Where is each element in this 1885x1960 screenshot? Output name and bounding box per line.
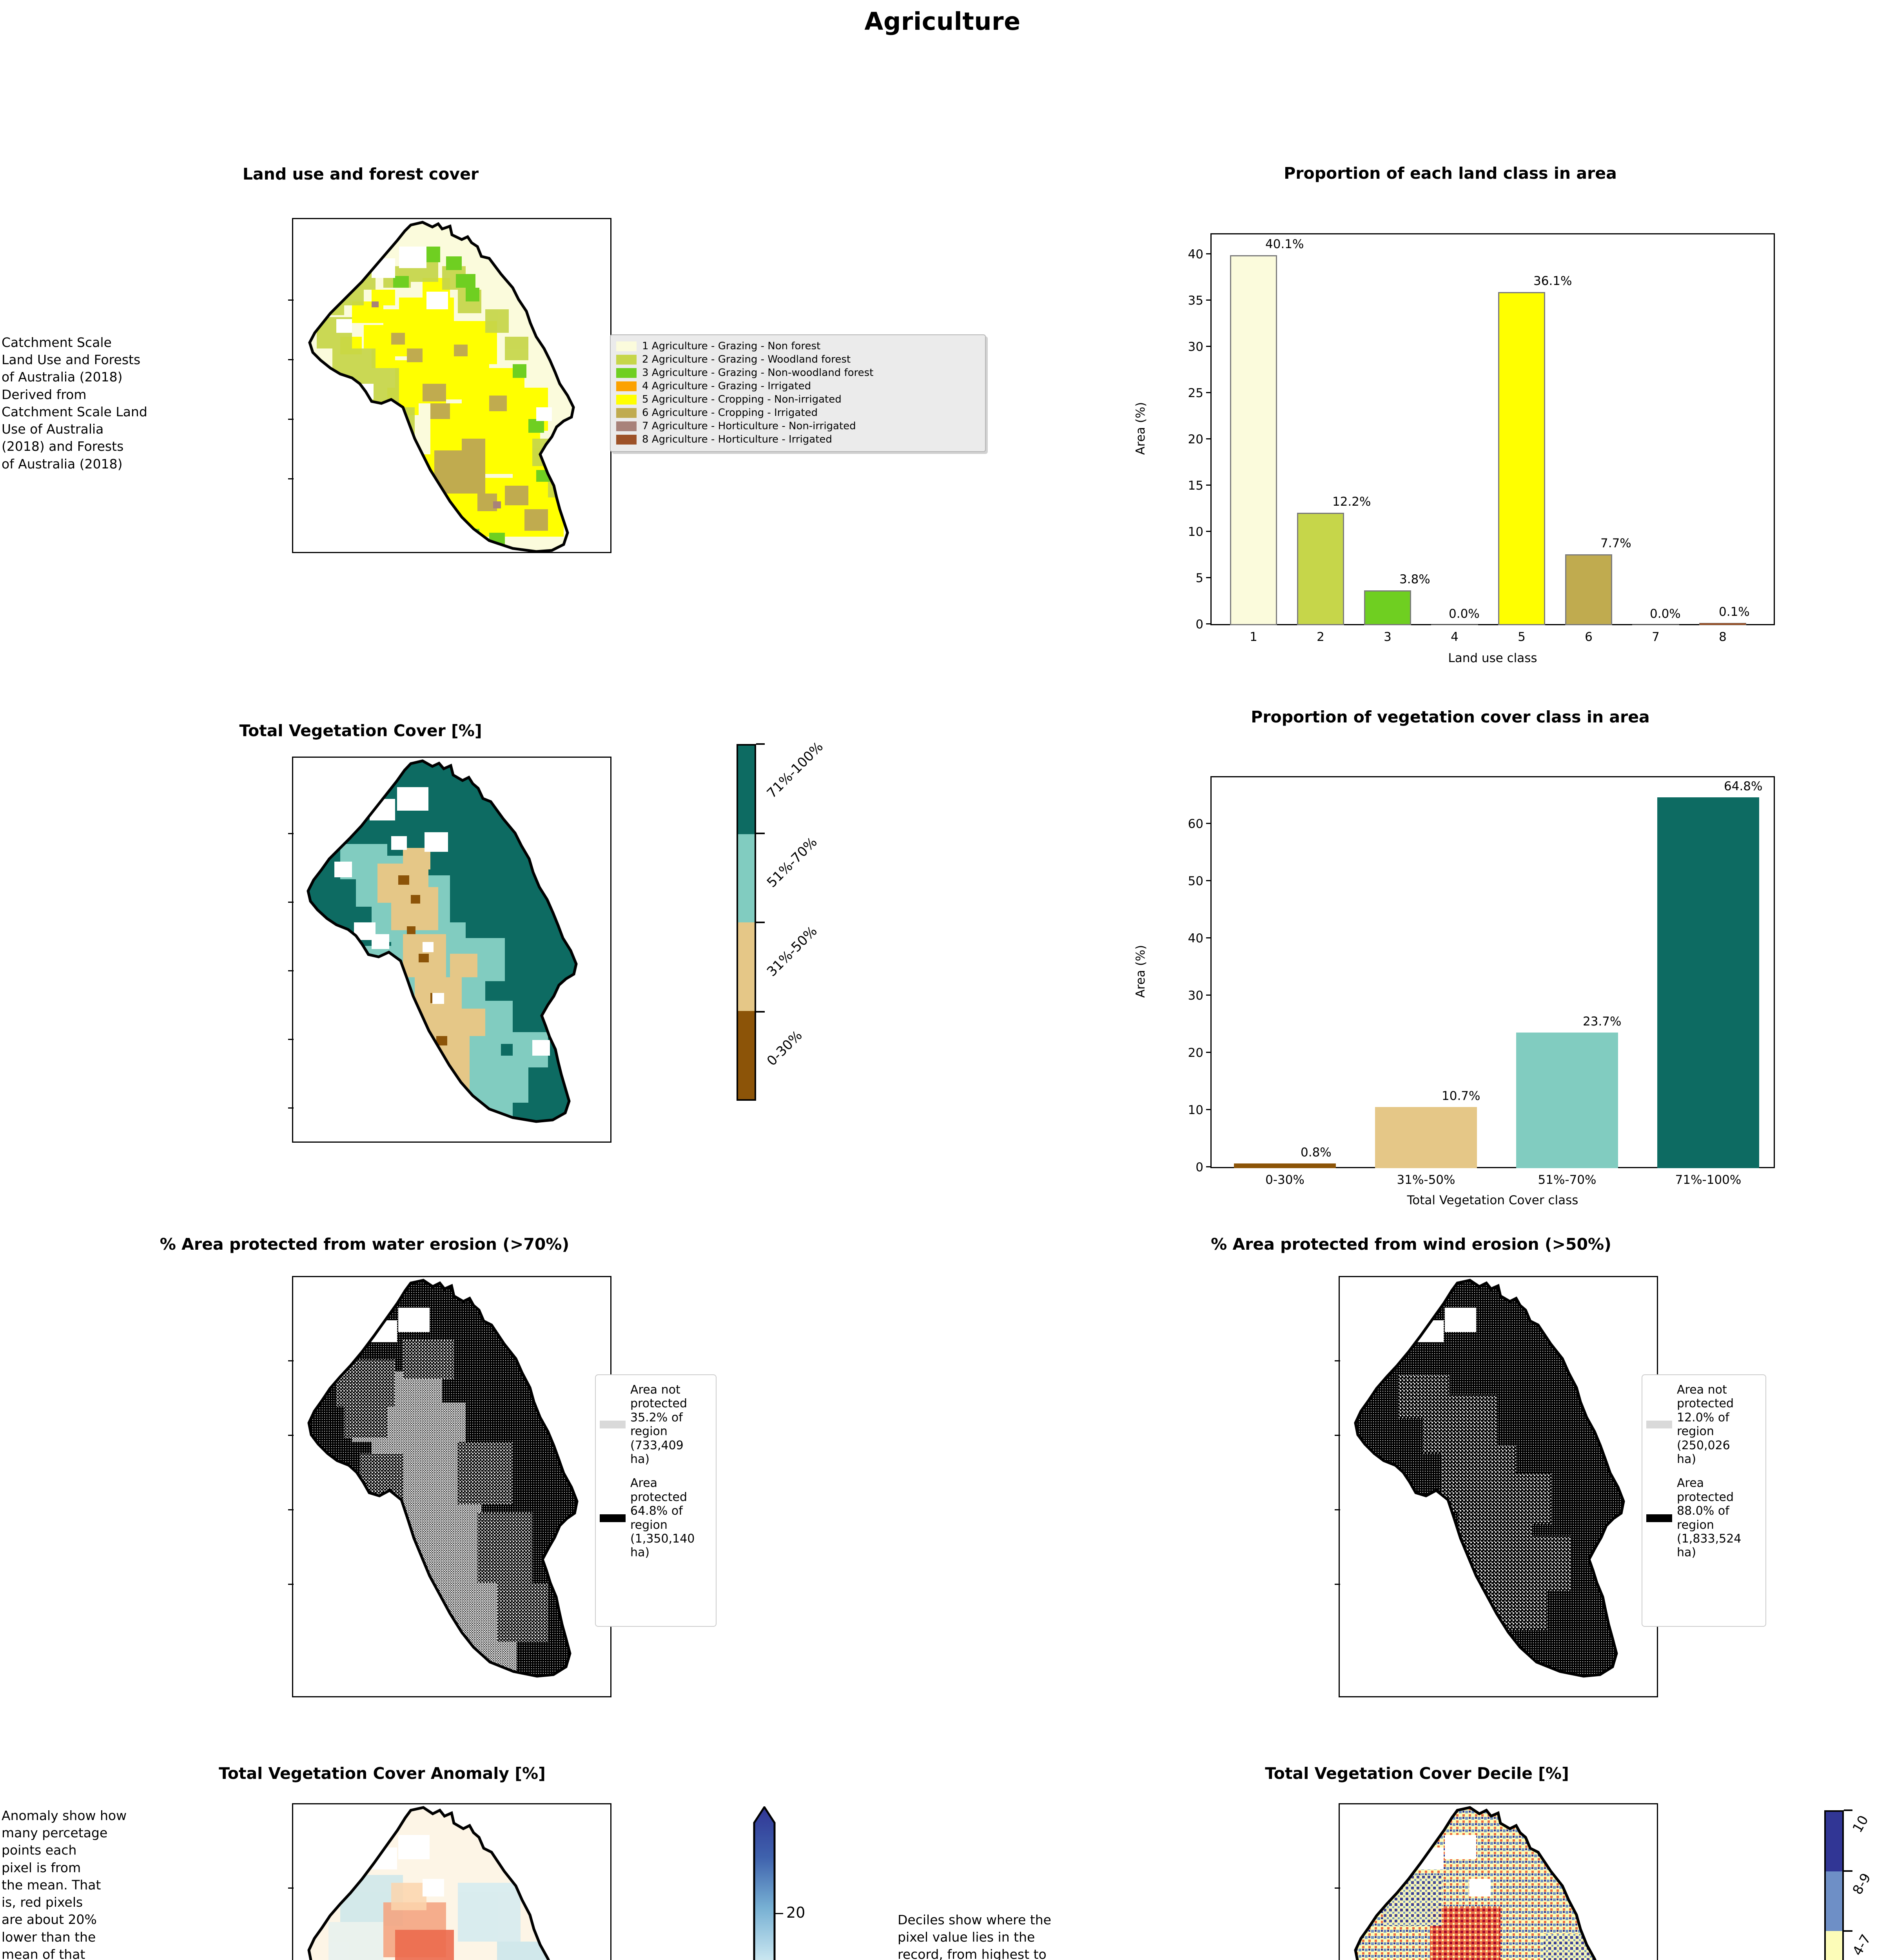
map-axis-tick [288, 1107, 294, 1109]
bar-71-100[interactable] [1657, 797, 1759, 1168]
legend-item: 1 Agriculture - Grazing - Non forest [616, 340, 979, 352]
ytick-15: 15 [1152, 479, 1203, 493]
xtick-71-100: 71%-100% [1657, 1173, 1759, 1187]
anomaly-colorbar [753, 1806, 776, 1960]
ytick-mark [1206, 623, 1211, 624]
land-class-chart[interactable]: 0 5 10 15 20 25 30 35 40 40.1% 12.2% 3.8… [1117, 214, 1791, 684]
bar-label-3: 3.8% [1399, 572, 1430, 586]
veg-class-ylabel: Area (%) [1134, 920, 1148, 1022]
xtick-1: 1 [1230, 630, 1277, 644]
ytick-mark [1206, 392, 1211, 393]
land-use-source-note: Catchment Scale Land Use and Forests of … [2, 334, 186, 473]
bar-label-8: 0.1% [1719, 605, 1750, 619]
map-axis-tick [288, 478, 294, 479]
map-axis-tick [288, 833, 294, 834]
veg-class-chart[interactable]: 0 10 20 30 40 50 60 0.8% 10.7% 23.7% 64.… [1117, 757, 1791, 1219]
legend-swatch-2 [616, 355, 637, 365]
bar-31-50[interactable] [1375, 1107, 1477, 1168]
legend-label-not-protected: Area not protected 12.0% of region (250,… [1677, 1383, 1734, 1466]
colorbar-segment-10 [1826, 1812, 1842, 1871]
ytick-mark [1206, 346, 1211, 347]
xtick-0-30: 0-30% [1234, 1173, 1336, 1187]
map-axis-tick [288, 970, 294, 971]
water-erosion-map-graphic [293, 1277, 610, 1696]
legend-item: 4 Agriculture - Grazing - Irrigated [616, 380, 979, 392]
colorbar-label-0-30: 0-30% [764, 1027, 806, 1069]
bar-51-70[interactable] [1516, 1033, 1618, 1168]
colorbar-label-4-7: 4-7 [1850, 1932, 1874, 1958]
legend-swatch-3 [616, 368, 637, 378]
ytick-mark [1206, 937, 1211, 938]
bar-label-2: 12.2% [1332, 495, 1371, 509]
colorbar-tick [756, 1011, 765, 1013]
water-erosion-map[interactable] [292, 1276, 611, 1697]
wind-erosion-map-graphic [1340, 1277, 1657, 1696]
map-axis-tick [288, 419, 294, 420]
ytick-30: 30 [1152, 340, 1203, 354]
colorbar-label-20: 20 [786, 1904, 805, 1921]
colorbar-segment-0-30 [738, 1011, 755, 1100]
bar-1[interactable] [1230, 255, 1277, 625]
map-axis-tick [288, 1887, 294, 1889]
land-use-legend: 1 Agriculture - Grazing - Non forest 2 A… [610, 334, 986, 452]
bar-3[interactable] [1364, 590, 1411, 625]
map-axis-tick [288, 1435, 294, 1436]
anomaly-note: Anomaly show how many percetage points e… [2, 1807, 186, 1960]
ytick-mark [1206, 253, 1211, 254]
map-axis-tick [1335, 1435, 1340, 1436]
legend-item-protected: Area protected 88.0% of region (1,833,52… [1646, 1476, 1762, 1559]
ytick-10: 10 [1152, 525, 1203, 539]
colorbar-tick-20 [775, 1913, 783, 1914]
ytick-20: 20 [1152, 432, 1203, 446]
colorbar-tick [1844, 1930, 1852, 1932]
ytick-30: 30 [1152, 989, 1203, 1003]
ytick-mark [1206, 1109, 1211, 1110]
bar-label-5: 36.1% [1533, 274, 1572, 288]
map-axis-tick [288, 299, 294, 301]
colorbar-segment-51-70 [738, 834, 755, 923]
legend-label-6: 6 Agriculture - Cropping - Irrigated [642, 408, 818, 418]
ytick-mark [1206, 995, 1211, 996]
bar-2[interactable] [1297, 513, 1344, 625]
colorbar-label-51-70: 51%-70% [764, 834, 820, 891]
ytick-mark [1206, 1166, 1211, 1167]
map-axis-tick [288, 902, 294, 903]
legend-swatch-protected [1646, 1514, 1672, 1522]
veg-cover-map-title: Total Vegetation Cover [%] [169, 721, 553, 740]
bar-label-71-100: 64.8% [1724, 779, 1762, 793]
bar-label-7: 0.0% [1650, 607, 1681, 621]
ytick-mark [1206, 880, 1211, 881]
xtick-3: 3 [1364, 630, 1411, 644]
ytick-mark [1206, 438, 1211, 439]
ytick-5: 5 [1152, 571, 1203, 585]
xtick-4: 4 [1431, 630, 1478, 644]
decile-map-title: Total Vegetation Cover Decile [%] [1172, 1764, 1662, 1783]
page-title: Agriculture [0, 7, 1885, 36]
xtick-51-70: 51%-70% [1516, 1173, 1618, 1187]
veg-cover-map[interactable] [292, 757, 611, 1143]
colorbar-segment-4-7 [1826, 1931, 1842, 1960]
legend-swatch-not-protected [1646, 1421, 1672, 1428]
ytick-40: 40 [1152, 247, 1203, 261]
legend-label-4: 4 Agriculture - Grazing - Irrigated [642, 381, 811, 391]
ytick-mark [1206, 299, 1211, 301]
xtick-7: 7 [1632, 630, 1679, 644]
map-axis-tick [1335, 1360, 1340, 1361]
legend-swatch-not-protected [600, 1421, 626, 1428]
legend-label-protected: Area protected 64.8% of region (1,350,14… [630, 1476, 695, 1559]
ytick-0: 0 [1152, 1160, 1203, 1174]
legend-item-protected: Area protected 64.8% of region (1,350,14… [600, 1476, 712, 1559]
legend-swatch-6 [616, 408, 637, 418]
legend-swatch-protected [600, 1514, 626, 1522]
ytick-10: 10 [1152, 1103, 1203, 1117]
map-axis-tick [1335, 1584, 1340, 1585]
legend-item: 8 Agriculture - Horticulture - Irrigated [616, 433, 979, 446]
map-axis-tick [1335, 1509, 1340, 1510]
colorbar-label-31-50: 31%-50% [764, 923, 820, 980]
ytick-mark [1206, 531, 1211, 532]
veg-class-xlabel: Total Vegetation Cover class [1210, 1193, 1775, 1207]
xtick-8: 8 [1699, 630, 1746, 644]
bar-label-6: 7.7% [1600, 536, 1631, 550]
bar-4[interactable] [1431, 624, 1478, 625]
legend-item-not-protected: Area not protected 35.2% of region (733,… [600, 1383, 712, 1466]
bar-label-1: 40.1% [1265, 237, 1304, 251]
legend-label-1: 1 Agriculture - Grazing - Non forest [642, 341, 820, 351]
anomaly-colorbar-graphic [753, 1806, 776, 1960]
map-axis-tick [288, 359, 294, 360]
legend-label-5: 5 Agriculture - Cropping - Non-irrigated [642, 394, 842, 405]
anomaly-map[interactable] [292, 1803, 611, 1960]
ytick-60: 60 [1152, 817, 1203, 831]
ytick-mark [1206, 823, 1211, 824]
xtick-2: 2 [1297, 630, 1344, 644]
colorbar-segment-71-100 [738, 746, 755, 834]
wind-erosion-map[interactable] [1339, 1276, 1658, 1697]
legend-swatch-7 [616, 421, 637, 431]
wind-erosion-legend: Area not protected 12.0% of region (250,… [1642, 1374, 1766, 1627]
bar-0-30[interactable] [1234, 1163, 1336, 1168]
water-erosion-legend: Area not protected 35.2% of region (733,… [595, 1374, 717, 1627]
legend-swatch-4 [616, 381, 637, 391]
veg-cover-colorbar [737, 744, 756, 1101]
bar-6[interactable] [1565, 554, 1612, 625]
xtick-5: 5 [1498, 630, 1545, 644]
veg-class-chart-title: Proportion of vegetation cover class in … [1098, 708, 1803, 726]
xtick-6: 6 [1565, 630, 1612, 644]
legend-swatch-8 [616, 435, 637, 445]
bar-label-31-50: 10.7% [1442, 1089, 1480, 1103]
colorbar-tick [756, 833, 765, 834]
ytick-50: 50 [1152, 874, 1203, 888]
legend-item: 6 Agriculture - Cropping - Irrigated [616, 407, 979, 419]
legend-item-not-protected: Area not protected 12.0% of region (250,… [1646, 1383, 1762, 1466]
land-class-plot-area [1210, 233, 1775, 625]
legend-swatch-5 [616, 395, 637, 405]
colorbar-tick [1844, 1870, 1852, 1872]
decile-note: Deciles show where the pixel value lies … [898, 1911, 1117, 1960]
legend-item: 2 Agriculture - Grazing - Woodland fores… [616, 353, 979, 366]
land-use-map-graphic [293, 219, 610, 552]
veg-cover-map-graphic [293, 758, 610, 1142]
legend-label-protected: Area protected 88.0% of region (1,833,52… [1677, 1476, 1741, 1559]
ytick-mark [1206, 577, 1211, 578]
anomaly-map-title: Total Vegetation Cover Anomaly [%] [137, 1764, 627, 1783]
land-use-map[interactable] [292, 218, 611, 553]
colorbar-label-8-9: 8-9 [1850, 1871, 1874, 1897]
legend-label-8: 8 Agriculture - Horticulture - Irrigated [642, 434, 832, 445]
bar-8[interactable] [1699, 623, 1746, 625]
ytick-25: 25 [1152, 386, 1203, 400]
decile-map[interactable] [1339, 1803, 1658, 1960]
land-use-map-title: Land use and forest cover [184, 165, 537, 183]
bar-7[interactable] [1632, 624, 1679, 625]
legend-item: 5 Agriculture - Cropping - Non-irrigated [616, 393, 979, 406]
map-axis-tick [1335, 1887, 1340, 1889]
ytick-20: 20 [1152, 1046, 1203, 1060]
water-erosion-map-title: % Area protected from water erosion (>70… [110, 1235, 619, 1254]
decile-colorbar [1824, 1810, 1844, 1960]
map-axis-tick [288, 1360, 294, 1361]
legend-label-3: 3 Agriculture - Grazing - Non-woodland f… [642, 368, 873, 378]
legend-swatch-1 [616, 341, 637, 351]
wind-erosion-map-title: % Area protected from wind erosion (>50%… [1156, 1235, 1666, 1254]
map-axis-tick [288, 1039, 294, 1040]
ytick-35: 35 [1152, 294, 1203, 308]
ytick-40: 40 [1152, 931, 1203, 946]
map-axis-tick [288, 1509, 294, 1510]
decile-map-graphic [1340, 1804, 1657, 1960]
colorbar-label-10: 10 [1850, 1813, 1872, 1835]
legend-item: 7 Agriculture - Horticulture - Non-irrig… [616, 420, 979, 432]
colorbar-label-71-100: 71%-100% [764, 739, 826, 801]
bar-label-0-30: 0.8% [1301, 1145, 1332, 1160]
colorbar-tick [1844, 1809, 1852, 1811]
legend-label-2: 2 Agriculture - Grazing - Woodland fores… [642, 354, 851, 365]
ytick-mark [1206, 1052, 1211, 1053]
ytick-0: 0 [1152, 617, 1203, 632]
bar-label-51-70: 23.7% [1583, 1014, 1621, 1029]
legend-label-7: 7 Agriculture - Horticulture - Non-irrig… [642, 421, 856, 431]
bar-label-4: 0.0% [1449, 607, 1480, 621]
land-class-xlabel: Land use class [1210, 651, 1775, 665]
map-axis-tick [288, 1584, 294, 1585]
land-class-ylabel: Area (%) [1134, 377, 1148, 479]
bar-5[interactable] [1498, 292, 1545, 625]
anomaly-map-graphic [293, 1804, 610, 1960]
colorbar-segment-8-9 [1826, 1871, 1842, 1931]
ytick-mark [1206, 485, 1211, 486]
colorbar-segment-31-50 [738, 922, 755, 1011]
colorbar-tick [756, 922, 765, 923]
xtick-31-50: 31%-50% [1375, 1173, 1477, 1187]
legend-label-not-protected: Area not protected 35.2% of region (733,… [630, 1383, 687, 1466]
legend-item: 3 Agriculture - Grazing - Non-woodland f… [616, 367, 979, 379]
land-class-chart-title: Proportion of each land class in area [1098, 164, 1803, 183]
colorbar-tick [756, 743, 765, 745]
